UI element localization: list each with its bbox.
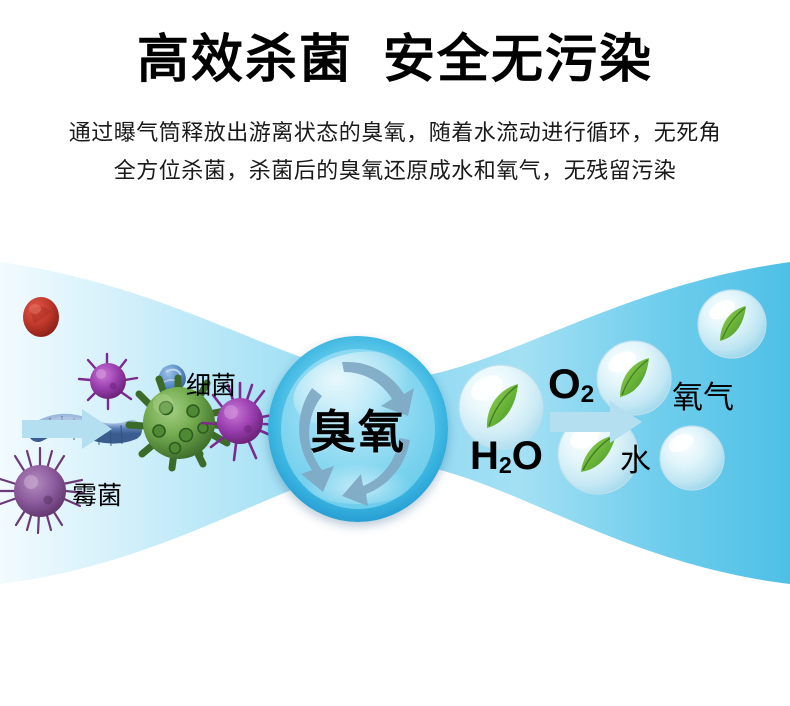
bubble-with-leaf-2 — [597, 341, 671, 415]
label-o2-formula: O2 — [548, 360, 594, 408]
label-mold: 霉菌 — [72, 476, 122, 512]
ozone-circle: 臭氧 — [268, 336, 448, 522]
label-h2o-formula: H2O — [470, 434, 543, 479]
subtitle-line-2: 全方位杀菌，杀菌后的臭氧还原成水和氧气，无残留污染 — [0, 156, 790, 186]
promo-infographic: 高效杀菌 安全无污染 通过曝气筒释放出游离状态的臭氧，随着水流动进行循环，无死角… — [0, 0, 790, 706]
label-oxygen-name: 氧气 — [672, 372, 734, 417]
h2o-oxygen: O — [512, 434, 543, 478]
o2-element: O — [548, 360, 581, 407]
h2o-hydrogen: H — [470, 434, 499, 478]
label-water-name: 水 — [620, 435, 651, 480]
bubble-plain — [660, 426, 724, 490]
h2o-subscript: 2 — [499, 452, 512, 478]
o2-subscript: 2 — [581, 381, 595, 408]
bubble-with-leaf-3 — [698, 290, 766, 358]
label-bacteria: 细菌 — [186, 366, 236, 402]
page-title: 高效杀菌 安全无污染 — [0, 30, 790, 92]
subtitle-line-1: 通过曝气筒释放出游离状态的臭氧，随着水流动进行循环，无死角 — [0, 118, 790, 148]
sterilization-diagram: 臭氧 细菌 霉菌 O2 H2O 氧气 水 — [0, 232, 790, 612]
microbe-red-blob — [23, 297, 59, 337]
ozone-label: 臭氧 — [268, 336, 448, 522]
